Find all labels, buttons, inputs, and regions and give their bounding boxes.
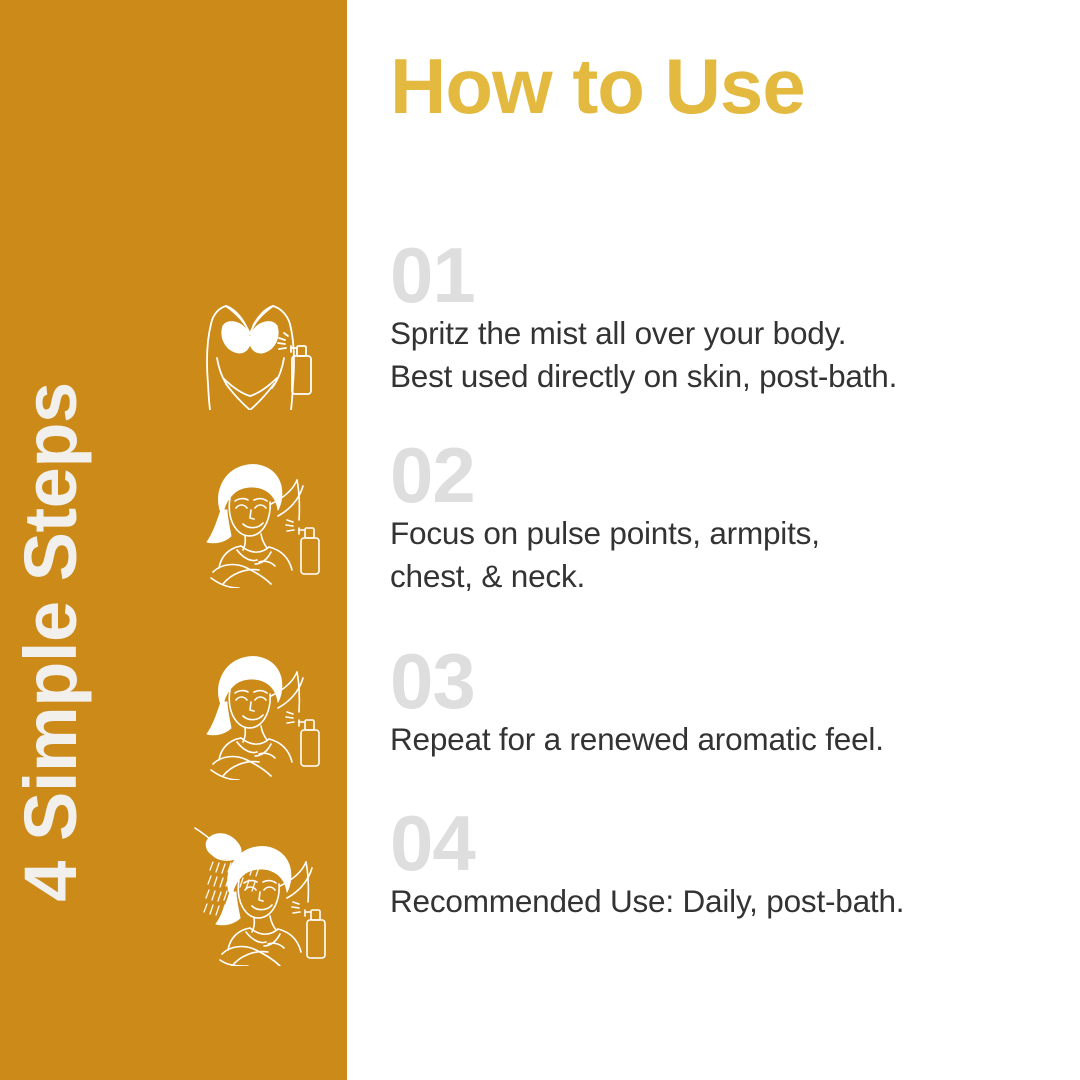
woman-arm-raised-spray-illustration bbox=[193, 458, 329, 588]
step-description: Spritz the mist all over your body. Best… bbox=[390, 312, 1070, 398]
sidebar-vertical-title: 4 Simple Steps bbox=[0, 282, 107, 1002]
step-number: 01 bbox=[390, 244, 1070, 308]
content-panel: How to Use 01 Spritz the mist all over y… bbox=[347, 0, 1080, 1080]
step-item: 04 Recommended Use: Daily, post-bath. bbox=[390, 812, 1070, 923]
sidebar-panel: 4 Simple Steps bbox=[0, 0, 347, 1080]
step-item: 01 Spritz the mist all over your body. B… bbox=[390, 244, 1070, 398]
torso-swimwear-spray-illustration bbox=[193, 292, 323, 410]
step-number: 03 bbox=[390, 650, 1070, 714]
woman-arm-raised-spray-illustration-2 bbox=[193, 650, 329, 780]
step-number: 04 bbox=[390, 812, 1070, 876]
page-title: How to Use bbox=[390, 47, 805, 125]
step-description: Focus on pulse points, armpits, chest, &… bbox=[390, 512, 1070, 598]
step-description: Repeat for a renewed aromatic feel. bbox=[390, 718, 1070, 761]
step-description: Recommended Use: Daily, post-bath. bbox=[390, 880, 1070, 923]
step-number: 02 bbox=[390, 444, 1070, 508]
how-to-use-infographic: 4 Simple Steps bbox=[0, 0, 1080, 1080]
step-item: 02 Focus on pulse points, armpits, chest… bbox=[390, 444, 1070, 598]
woman-shower-spray-illustration bbox=[193, 826, 333, 966]
step-item: 03 Repeat for a renewed aromatic feel. bbox=[390, 650, 1070, 761]
